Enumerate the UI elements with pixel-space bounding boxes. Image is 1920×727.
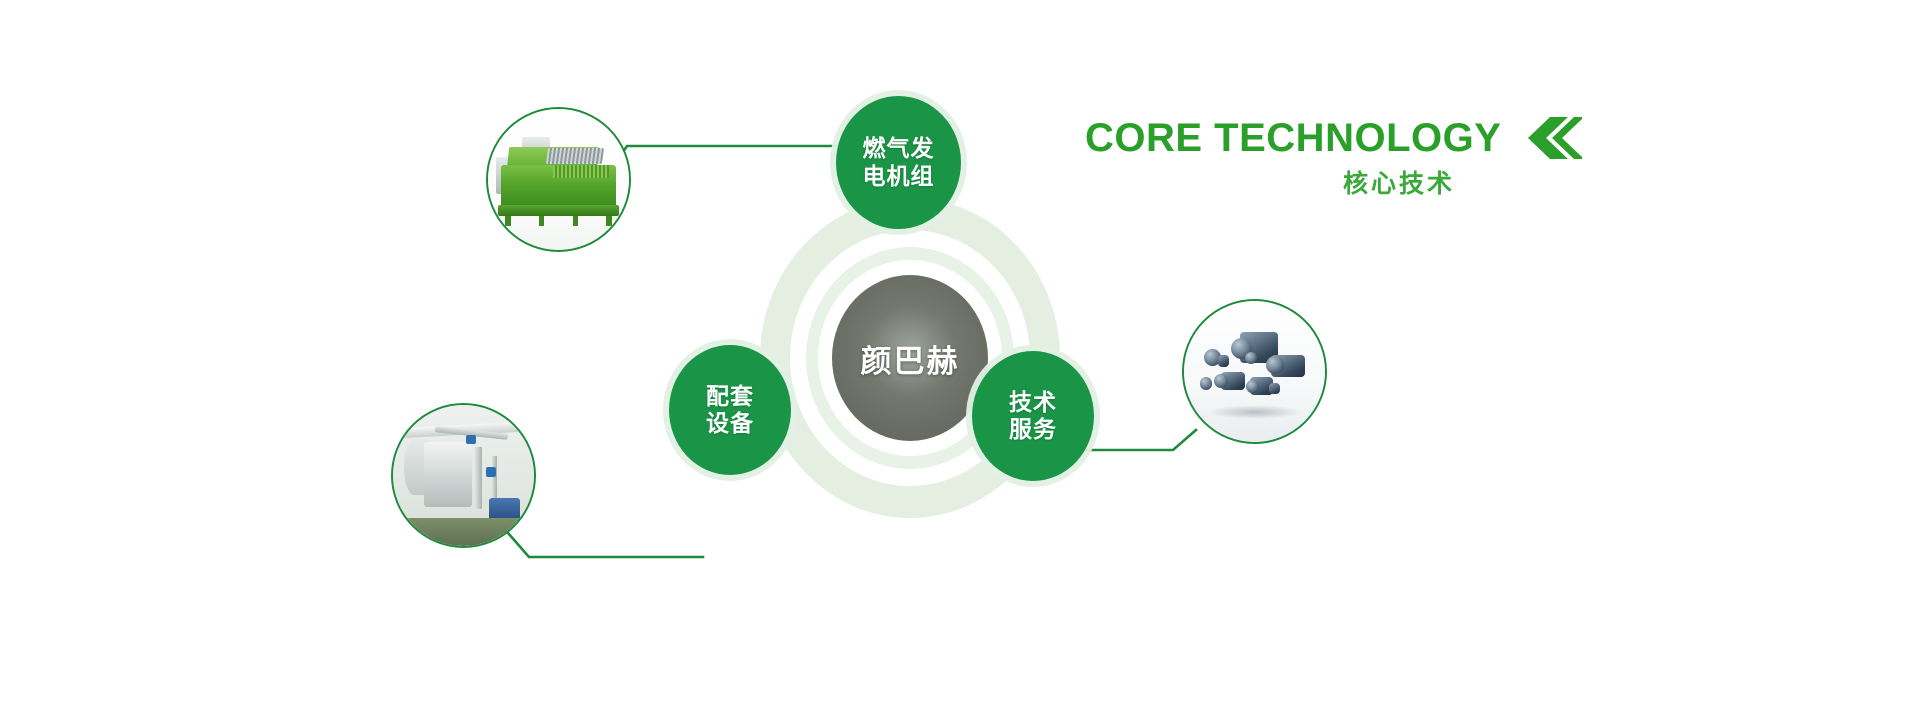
double-chevron-left-icon — [1520, 115, 1582, 166]
core-technology-diagram: 颜巴赫 燃气发 电机组 配套 设备 技术 服务 — [0, 0, 1920, 727]
node-supporting-equipment-line-1: 配套 — [706, 383, 754, 410]
photo-supporting-equipment[interactable] — [391, 403, 536, 548]
header-title-zh: 核心技术 — [1343, 164, 1455, 200]
center-label: 颜巴赫 — [861, 336, 960, 381]
node-gas-generator-line-2: 电机组 — [863, 163, 935, 190]
node-supporting-equipment-line-2: 设备 — [706, 410, 754, 437]
header-title-en: CORE TECHNOLOGY — [1085, 118, 1501, 158]
node-gas-generator-line-1: 燃气发 — [863, 135, 935, 162]
photo-gas-generator-image — [488, 109, 629, 250]
connector-equipment — [508, 533, 703, 557]
node-technical-service[interactable]: 技术 服务 — [972, 351, 1094, 481]
node-technical-service-line-2: 服务 — [1009, 416, 1057, 443]
node-gas-generator-set[interactable]: 燃气发 电机组 — [836, 96, 961, 229]
photo-gas-generator[interactable] — [486, 107, 631, 252]
center-disc: 颜巴赫 — [832, 275, 988, 441]
photo-technical-parts-image — [1184, 301, 1325, 442]
node-technical-service-line-1: 技术 — [1009, 389, 1057, 416]
node-supporting-equipment[interactable]: 配套 设备 — [669, 345, 791, 475]
photo-supporting-equipment-image — [393, 405, 534, 546]
connector-generator — [602, 146, 836, 183]
header-block: CORE TECHNOLOGY 核心技术 — [1085, 112, 1585, 202]
photo-technical-parts[interactable] — [1182, 299, 1327, 444]
